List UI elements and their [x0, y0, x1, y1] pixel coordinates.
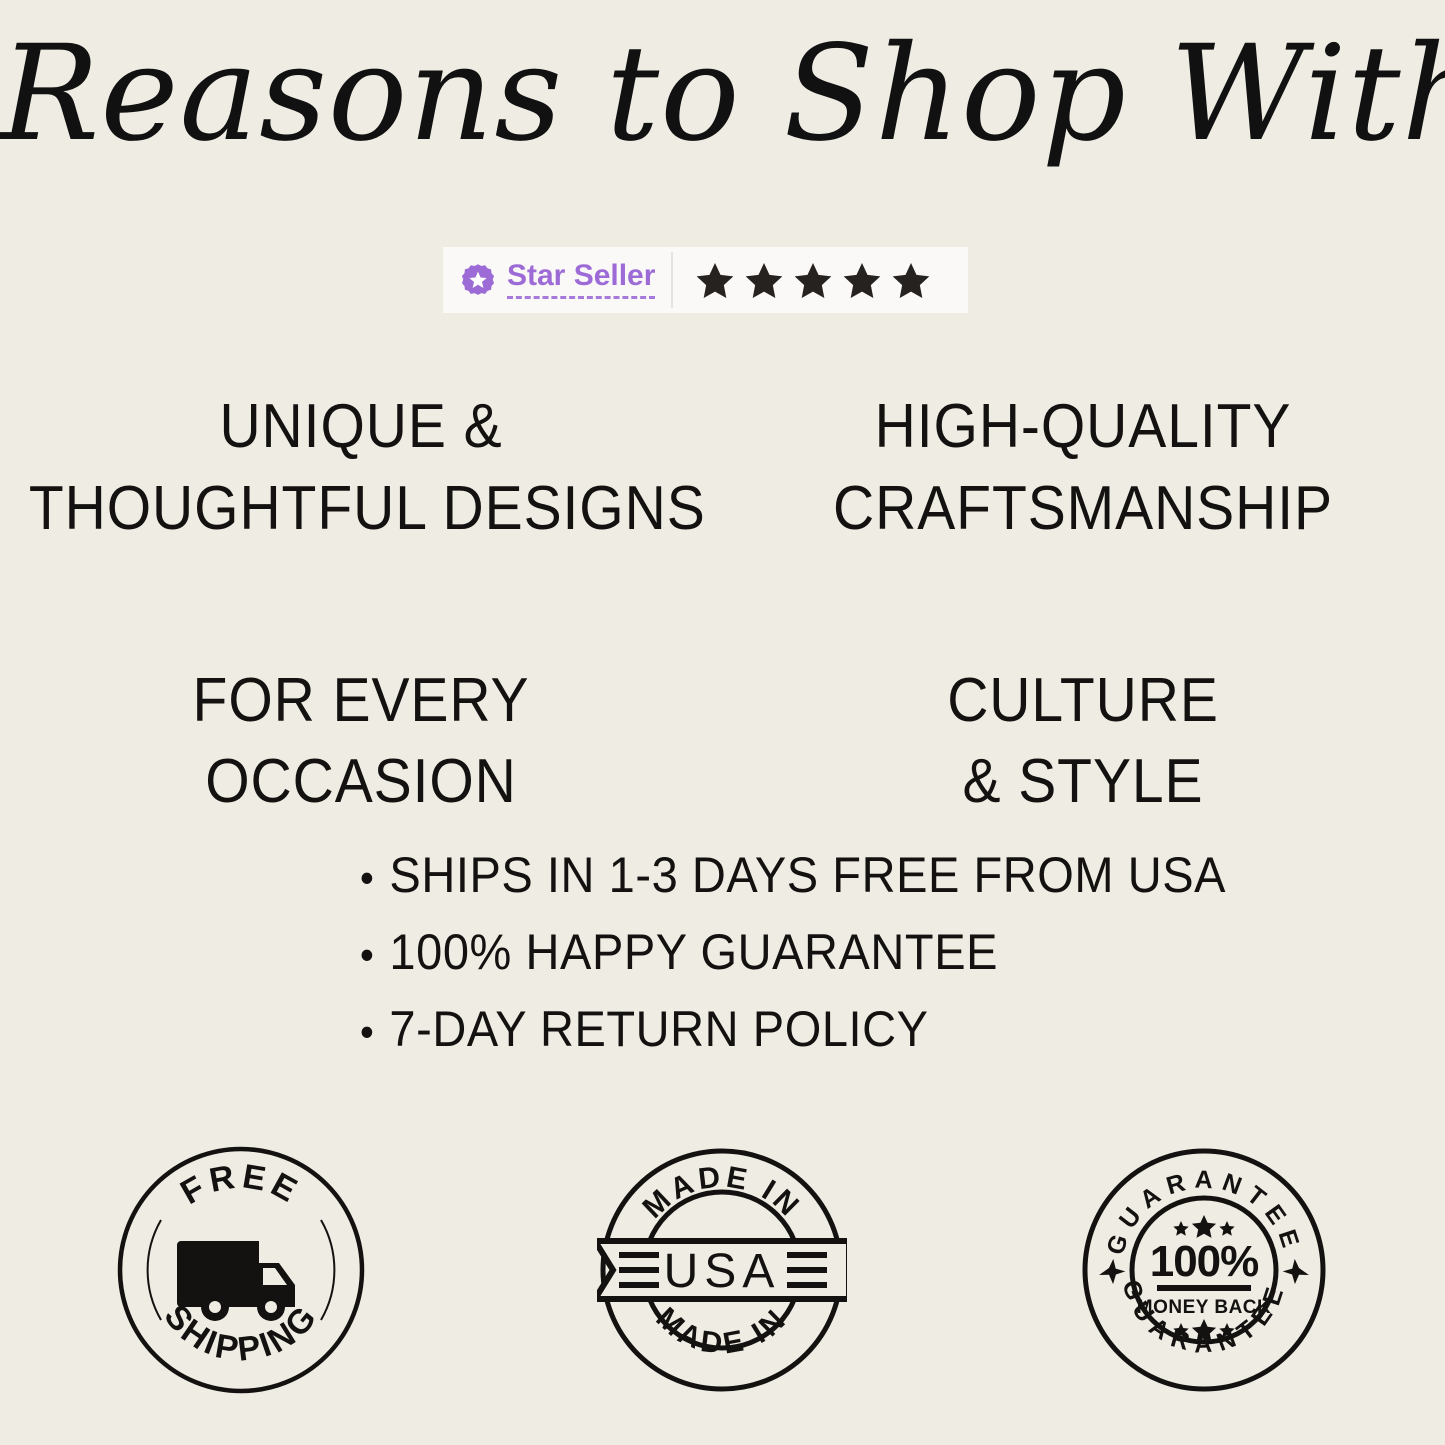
feature-grid: UNIQUE & THOUGHTFUL DESIGNS HIGH-QUALITY…: [0, 386, 1445, 823]
policy-list: • SHIPS IN 1-3 DAYS FREE FROM USA • 100%…: [360, 850, 1260, 1081]
list-item-label: 7-DAY RETURN POLICY: [389, 1004, 928, 1054]
star-icon: [744, 260, 784, 300]
feature-line: CRAFTSMANSHIP: [751, 468, 1415, 550]
badge-slot-money-back: GUARANTEE GUARANTEE 100% MONEY BACK: [963, 1145, 1445, 1395]
list-item-label: SHIPS IN 1-3 DAYS FREE FROM USA: [389, 850, 1226, 900]
feature-line: & STYLE: [751, 741, 1415, 823]
promo-graphic: Reasons to Shop With Us Star Seller UNIQ…: [0, 0, 1445, 1445]
star-rating: [673, 260, 931, 300]
feature-line: CULTURE: [751, 660, 1415, 742]
feature-line: HIGH-QUALITY: [751, 386, 1415, 468]
divider-rule: [1157, 1285, 1251, 1291]
feature-line: THOUGHTFUL DESIGNS: [29, 468, 693, 550]
money-back-guarantee-badge: GUARANTEE GUARANTEE 100% MONEY BACK: [1079, 1145, 1329, 1395]
feature-line: FOR EVERY: [29, 660, 693, 742]
badge-center-caption: MONEY BACK: [1137, 1297, 1272, 1318]
bullet-icon: •: [360, 934, 374, 976]
list-item: • 7-DAY RETURN POLICY: [360, 1004, 1206, 1054]
badge-bottom-text: SHIPPING: [156, 1297, 325, 1369]
list-item: • SHIPS IN 1-3 DAYS FREE FROM USA: [360, 850, 1206, 900]
star-icon: [891, 260, 931, 300]
badge-top-text: FREE: [174, 1157, 307, 1212]
feature-culture-and-style: CULTURE & STYLE: [751, 660, 1415, 824]
feature-high-quality-craftsmanship: HIGH-QUALITY CRAFTSMANSHIP: [751, 386, 1415, 550]
feature-line: UNIQUE &: [29, 386, 693, 468]
badge-bottom-text: MADE IN: [650, 1301, 795, 1360]
bullet-icon: •: [360, 857, 374, 899]
badge-slot-made-in-usa: MADE IN MADE IN USA: [482, 1145, 964, 1395]
star-icon: [695, 260, 735, 300]
star-icon: [842, 260, 882, 300]
star-rosette-icon: [461, 263, 495, 297]
bullet-icon: •: [360, 1011, 374, 1053]
trust-badge-row: FREE SHIPPING: [0, 1140, 1445, 1400]
star-seller-badge: Star Seller: [443, 247, 968, 313]
page-title: Reasons to Shop With Us: [0, 28, 1445, 160]
badge-ribbon-text: USA: [664, 1245, 781, 1298]
feature-unique-thoughtful-designs: UNIQUE & THOUGHTFUL DESIGNS: [29, 386, 693, 550]
inner-stars-top: [1173, 1215, 1234, 1238]
badge-slot-free-shipping: FREE SHIPPING: [0, 1145, 482, 1395]
star-seller-label: Star Seller: [507, 261, 655, 299]
free-shipping-badge: FREE SHIPPING: [116, 1145, 366, 1395]
badge-center-value: 100%: [1150, 1237, 1259, 1286]
feature-for-every-occasion: FOR EVERY OCCASION: [29, 660, 693, 824]
list-item: • 100% HAPPY GUARANTEE: [360, 927, 1206, 977]
star-seller-left: Star Seller: [443, 247, 671, 313]
feature-row-1: UNIQUE & THOUGHTFUL DESIGNS HIGH-QUALITY…: [0, 386, 1445, 550]
feature-row-2: FOR EVERY OCCASION CULTURE & STYLE: [0, 660, 1445, 824]
star-icon: [793, 260, 833, 300]
made-in-usa-badge: MADE IN MADE IN USA: [597, 1145, 847, 1395]
feature-line: OCCASION: [29, 741, 693, 823]
list-item-label: 100% HAPPY GUARANTEE: [389, 927, 998, 977]
